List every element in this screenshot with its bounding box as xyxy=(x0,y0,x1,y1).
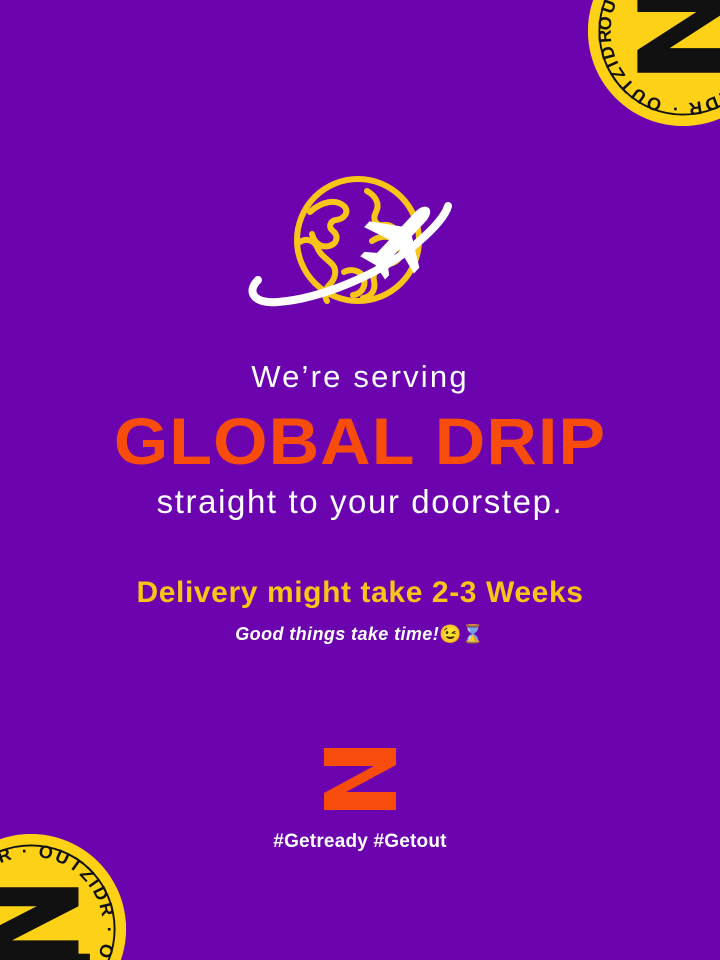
poster-copy: We’re serving GLOBAL DRIP straight to yo… xyxy=(0,360,720,645)
subhead-text: straight to your doorstep. xyxy=(24,484,696,520)
outzidr-z-logo xyxy=(320,748,400,810)
outzidr-seal-top-right: OUTZIDR · OUTZIDR · OUTZIDR · OUTZIDR · xyxy=(588,0,720,126)
eyebrow-text: We’re serving xyxy=(24,360,696,394)
delivery-note: Good things take time!😉⌛ xyxy=(24,625,696,645)
winking-face-icon: 😉 xyxy=(439,624,462,644)
delivery-notice: Delivery might take 2-3 Weeks xyxy=(24,576,696,609)
outzidr-seal-bottom-left: OUTZIDR · OUTZIDR · OUTZIDR · OUTZIDR · … xyxy=(0,834,126,960)
page-title: GLOBAL DRIP xyxy=(4,408,716,474)
seal-wordmark-bottom: OUTZIDR xyxy=(0,954,90,960)
globe-illustration xyxy=(0,168,720,333)
hourglass-icon: ⌛ xyxy=(462,624,485,644)
svg-text:OUTZIDR: OUTZIDR xyxy=(0,957,73,960)
promo-poster: We’re serving GLOBAL DRIP straight to yo… xyxy=(0,0,720,960)
delivery-note-text: Good things take time! xyxy=(235,624,439,644)
